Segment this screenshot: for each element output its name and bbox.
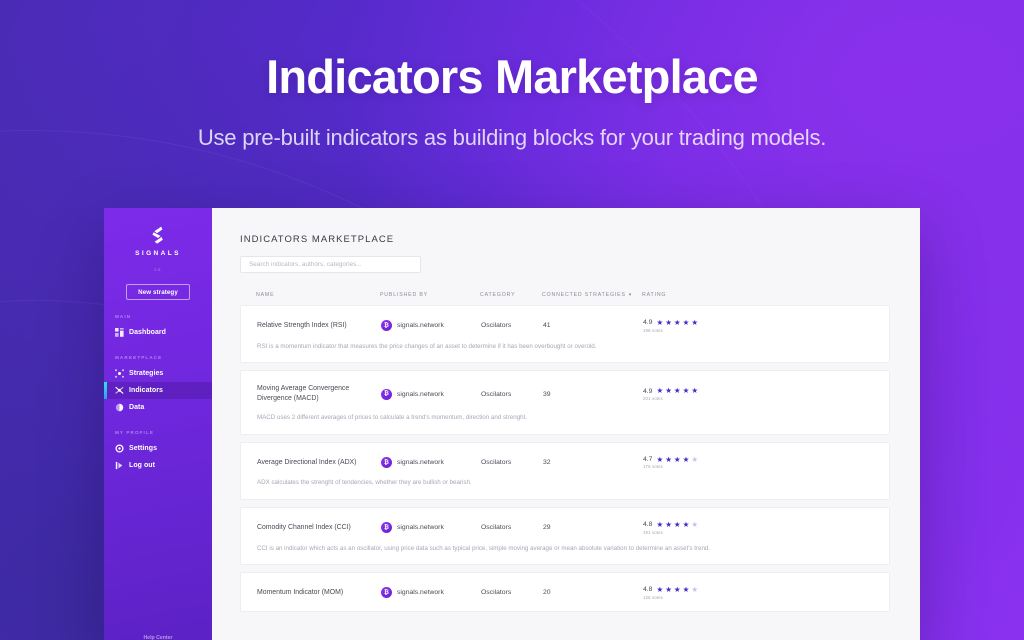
grid-icon xyxy=(115,328,124,337)
star-icon: ★ xyxy=(674,387,681,395)
column-header-name: NAME xyxy=(256,292,380,298)
rating-value: 4.9 xyxy=(643,388,652,395)
indicator-description: ADX calculates the strenght of tendencie… xyxy=(257,479,873,488)
main-content: INDICATORS MARKETPLACE NAME PUBLISHED BY… xyxy=(212,208,920,640)
star-icon: ★ xyxy=(674,521,681,529)
rating-value: 4.9 xyxy=(643,319,652,326)
chevron-down-icon: ▾ xyxy=(629,292,632,298)
indicators-table: Relative Strength Index (RSI)₿signals.ne… xyxy=(240,305,890,612)
publisher-badge-icon: ₿ xyxy=(381,389,392,400)
star-icon: ★ xyxy=(691,319,698,327)
sidebar-item-data[interactable]: Data xyxy=(104,399,212,416)
star-icon: ★ xyxy=(665,456,672,464)
star-icon: ★ xyxy=(674,456,681,464)
indicator-description: CCI is an indicator which acts as an osc… xyxy=(257,545,873,554)
star-icon: ★ xyxy=(683,319,690,327)
indicator-category: Oscilators xyxy=(481,322,543,329)
star-icon: ★ xyxy=(656,456,663,464)
column-header-rating: RATING xyxy=(642,292,874,298)
rating-cell: 4.8★★★★★126 votes xyxy=(643,586,873,600)
indicator-category: Oscilators xyxy=(481,524,543,531)
star-icon: ★ xyxy=(691,586,698,594)
publisher-name: signals.network xyxy=(397,459,444,466)
rating-stars: ★★★★★ xyxy=(656,319,698,327)
search-input[interactable] xyxy=(249,261,412,268)
hero-section: Indicators Marketplace Use pre-built ind… xyxy=(0,52,1024,151)
star-icon: ★ xyxy=(691,521,698,529)
sidebar: SIGNALS co New strategy MAIN Dashboard M… xyxy=(104,208,212,640)
star-icon: ★ xyxy=(656,521,663,529)
publisher[interactable]: ₿signals.network xyxy=(381,522,481,533)
indicator-category: Oscilators xyxy=(481,391,543,398)
nav-group-label-main: MAIN xyxy=(115,314,212,319)
column-header-connected-strategies[interactable]: CONNECTED STRATEGIES ▾ xyxy=(542,292,642,298)
sidebar-logo-text: SIGNALS xyxy=(104,250,212,257)
votes-count: 126 votes xyxy=(643,595,873,600)
sidebar-item-label: Log out xyxy=(129,462,155,469)
rating-value: 4.7 xyxy=(643,456,652,463)
publisher-name: signals.network xyxy=(397,391,444,398)
rating-value: 4.8 xyxy=(643,586,652,593)
votes-count: 175 votes xyxy=(643,464,873,469)
star-icon: ★ xyxy=(674,586,681,594)
table-row[interactable]: Comodity Channel Index (CCI)₿signals.net… xyxy=(240,507,890,565)
indicator-name: Comodity Channel Index (CCI) xyxy=(257,523,381,533)
votes-count: 201 votes xyxy=(643,396,873,401)
sidebar-item-label: Settings xyxy=(129,445,157,452)
sidebar-logo[interactable]: SIGNALS co xyxy=(104,226,212,272)
table-row[interactable]: Relative Strength Index (RSI)₿signals.ne… xyxy=(240,305,890,363)
indicator-name: Moving Average Convergence Divergence (M… xyxy=(257,384,381,404)
star-icon: ★ xyxy=(656,586,663,594)
column-header-published-by: PUBLISHED BY xyxy=(380,292,480,298)
sidebar-item-label: Data xyxy=(129,404,144,411)
publisher-name: signals.network xyxy=(397,589,444,596)
star-icon: ★ xyxy=(683,456,690,464)
rating-stars: ★★★★★ xyxy=(656,586,698,594)
table-row[interactable]: Average Directional Index (ADX)₿signals.… xyxy=(240,442,890,500)
sidebar-item-label: Dashboard xyxy=(129,329,166,336)
page-subtitle: Use pre-built indicators as building blo… xyxy=(0,125,1024,151)
nodes-icon xyxy=(115,369,124,378)
publisher-badge-icon: ₿ xyxy=(381,320,392,331)
nav-group-label-my-profile: MY PROFILE xyxy=(115,430,212,435)
rating-cell: 4.7★★★★★175 votes xyxy=(643,456,873,470)
publisher[interactable]: ₿signals.network xyxy=(381,320,481,331)
star-icon: ★ xyxy=(656,319,663,327)
indicator-category: Oscilators xyxy=(481,589,543,596)
rating-cell: 4.9★★★★★198 votes xyxy=(643,319,873,333)
votes-count: 191 votes xyxy=(643,530,873,535)
publisher-name: signals.network xyxy=(397,322,444,329)
indicator-description: RSI is a momentum indicator that measure… xyxy=(257,343,873,352)
star-icon: ★ xyxy=(674,319,681,327)
sidebar-item-dashboard[interactable]: Dashboard xyxy=(104,324,212,341)
star-icon: ★ xyxy=(683,387,690,395)
connected-strategies-count: 41 xyxy=(543,322,643,329)
help-center-link[interactable]: Help Center xyxy=(104,635,212,640)
connected-strategies-count: 29 xyxy=(543,524,643,531)
star-icon: ★ xyxy=(665,319,672,327)
indicator-description: MACD uses 2 different averages of prices… xyxy=(257,414,873,423)
table-header: NAME PUBLISHED BY CATEGORY CONNECTED STR… xyxy=(240,292,890,298)
new-strategy-button[interactable]: New strategy xyxy=(126,284,190,300)
table-row[interactable]: Moving Average Convergence Divergence (M… xyxy=(240,370,890,435)
search-box[interactable] xyxy=(240,256,421,273)
publisher-badge-icon: ₿ xyxy=(381,587,392,598)
app-window: SIGNALS co New strategy MAIN Dashboard M… xyxy=(104,208,920,640)
rating-cell: 4.9★★★★★201 votes xyxy=(643,387,873,401)
sidebar-item-log-out[interactable]: Log out xyxy=(104,457,212,474)
publisher[interactable]: ₿signals.network xyxy=(381,457,481,468)
indicator-name: Momentum Indicator (MOM) xyxy=(257,588,381,598)
rating-stars: ★★★★★ xyxy=(656,387,698,395)
star-icon: ★ xyxy=(656,387,663,395)
star-icon: ★ xyxy=(665,521,672,529)
sidebar-logo-sub: co xyxy=(104,267,212,272)
sidebar-item-label: Strategies xyxy=(129,370,163,377)
page-title: Indicators Marketplace xyxy=(0,52,1024,103)
column-header-connected-label: CONNECTED STRATEGIES xyxy=(542,292,626,298)
indicator-name: Average Directional Index (ADX) xyxy=(257,458,381,468)
connected-strategies-count: 20 xyxy=(543,589,643,596)
database-circle-icon xyxy=(115,403,124,412)
signals-s-logo-icon xyxy=(150,226,166,244)
crosshair-icon xyxy=(115,386,124,395)
rating-stars: ★★★★★ xyxy=(656,456,698,464)
star-icon: ★ xyxy=(683,586,690,594)
star-icon: ★ xyxy=(691,456,698,464)
star-icon: ★ xyxy=(665,586,672,594)
star-icon: ★ xyxy=(665,387,672,395)
rating-stars: ★★★★★ xyxy=(656,521,698,529)
logout-icon xyxy=(115,461,124,470)
indicator-name: Relative Strength Index (RSI) xyxy=(257,321,381,331)
publisher[interactable]: ₿signals.network xyxy=(381,587,481,598)
column-header-category: CATEGORY xyxy=(480,292,542,298)
publisher[interactable]: ₿signals.network xyxy=(381,389,481,400)
rating-cell: 4.8★★★★★191 votes xyxy=(643,521,873,535)
nav-group-label-marketplace: MARKETPLACE xyxy=(115,355,212,360)
publisher-badge-icon: ₿ xyxy=(381,457,392,468)
star-icon: ★ xyxy=(691,387,698,395)
rating-value: 4.8 xyxy=(643,521,652,528)
publisher-name: signals.network xyxy=(397,524,444,531)
votes-count: 198 votes xyxy=(643,328,873,333)
sidebar-item-label: Indicators xyxy=(129,387,163,394)
connected-strategies-count: 39 xyxy=(543,391,643,398)
content-title: INDICATORS MARKETPLACE xyxy=(240,234,890,245)
connected-strategies-count: 32 xyxy=(543,459,643,466)
table-row[interactable]: Momentum Indicator (MOM)₿signals.network… xyxy=(240,572,890,612)
sidebar-item-strategies[interactable]: Strategies xyxy=(104,365,212,382)
sidebar-item-indicators[interactable]: Indicators xyxy=(104,382,212,399)
publisher-badge-icon: ₿ xyxy=(381,522,392,533)
indicator-category: Oscilators xyxy=(481,459,543,466)
gear-icon xyxy=(115,444,124,453)
star-icon: ★ xyxy=(683,521,690,529)
sidebar-item-settings[interactable]: Settings xyxy=(104,440,212,457)
